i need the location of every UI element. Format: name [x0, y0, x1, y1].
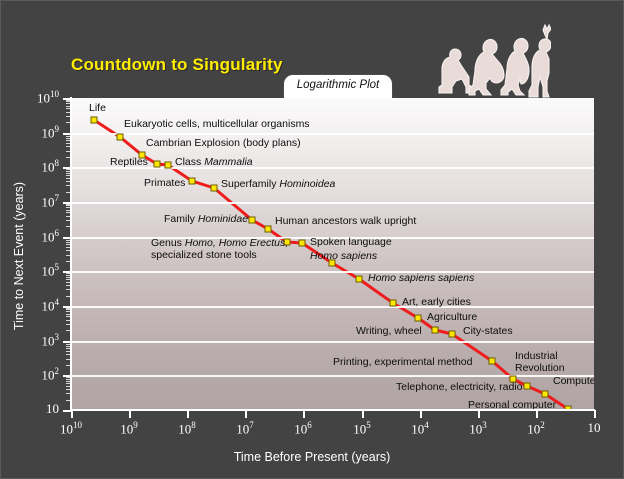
y-minor-tick [66, 381, 71, 382]
y-axis-line [70, 97, 72, 411]
gridline [71, 202, 594, 204]
y-minor-tick [66, 244, 71, 245]
gridline [71, 167, 594, 169]
data-point-marker[interactable] [154, 161, 161, 168]
data-point-marker[interactable] [432, 327, 439, 334]
y-minor-tick [66, 383, 71, 384]
data-point-label: Art, early cities [402, 296, 471, 308]
y-minor-tick [66, 289, 71, 290]
y-minor-tick [66, 171, 71, 172]
x-axis-title: Time Before Present (years) [1, 450, 623, 464]
data-point-label: Writing, wheel [356, 325, 422, 337]
y-minor-tick [66, 205, 71, 206]
y-minor-tick [66, 342, 71, 343]
y-minor-tick [66, 136, 71, 137]
y-minor-tick [66, 275, 71, 276]
y-minor-tick [66, 314, 71, 315]
data-point-label: Homo sapiens sapiens [368, 272, 474, 284]
y-minor-tick [66, 212, 71, 213]
gridline [71, 306, 594, 308]
data-point-label: Telephone, electricity, radio [396, 381, 522, 393]
y-minor-tick [66, 279, 71, 280]
data-point-marker[interactable] [489, 358, 496, 365]
y-minor-tick [66, 207, 71, 208]
y-minor-tick [66, 134, 71, 135]
y-tick-label: 104 [1, 297, 59, 314]
y-minor-tick [66, 393, 71, 394]
y-minor-tick [66, 169, 71, 170]
y-minor-tick [66, 151, 71, 152]
x-tick [478, 410, 480, 418]
y-minor-tick [66, 210, 71, 211]
y-minor-tick [66, 100, 71, 101]
y-minor-tick [66, 354, 71, 355]
x-tick-label: 104 [411, 420, 429, 437]
y-minor-tick [66, 351, 71, 352]
x-tick-label: 107 [236, 420, 254, 437]
human-evolution-silhouettes-icon [425, 7, 551, 99]
y-minor-tick [66, 261, 71, 262]
data-point-label: Revolution [515, 362, 565, 374]
y-minor-tick [66, 238, 71, 239]
y-minor-tick [66, 140, 71, 141]
data-point-label: specialized stone tools [151, 249, 257, 261]
y-minor-tick [66, 146, 71, 147]
tab-label: Logarithmic Plot [284, 79, 392, 91]
y-minor-tick [66, 101, 71, 102]
y-minor-tick [66, 346, 71, 347]
x-tick-label: 109 [120, 420, 138, 437]
y-minor-tick [66, 250, 71, 251]
y-minor-tick [66, 178, 71, 179]
data-point-label: Spoken language [310, 236, 392, 248]
data-point-label: Primates [144, 177, 185, 189]
data-point-label: Printing, experimental method [333, 356, 473, 368]
data-point-label: Family Hominidae [164, 213, 248, 225]
y-minor-tick [66, 216, 71, 217]
data-point-marker[interactable] [449, 331, 456, 338]
y-minor-tick [66, 204, 71, 205]
plot-area: LifeEukaryotic cells, multicellular orga… [71, 98, 594, 410]
data-point-label: Eukaryotic cells, multicellular organism… [124, 118, 310, 130]
y-minor-tick [66, 192, 71, 193]
y-minor-tick [66, 247, 71, 248]
data-point-label: Industrial [515, 350, 558, 362]
y-minor-tick [66, 282, 71, 283]
x-tick [71, 410, 73, 418]
data-point-marker[interactable] [165, 162, 172, 169]
data-point-marker[interactable] [117, 134, 124, 141]
y-minor-tick [66, 379, 71, 380]
x-tick-label: 102 [527, 420, 545, 437]
y-minor-tick [66, 103, 71, 104]
data-point-marker[interactable] [390, 300, 397, 307]
data-point-marker[interactable] [524, 383, 531, 390]
data-point-label: Superfamily Hominoidea [221, 178, 335, 190]
x-tick [187, 410, 189, 418]
y-tick-label: 1010 [1, 89, 59, 106]
y-minor-tick [66, 108, 71, 109]
y-minor-tick [66, 400, 71, 401]
y-minor-tick [66, 309, 71, 310]
data-point-marker[interactable] [265, 226, 272, 233]
x-tick [245, 410, 247, 418]
y-minor-tick [66, 226, 71, 227]
y-minor-tick [66, 122, 71, 123]
x-tick [420, 410, 422, 418]
y-minor-tick [66, 359, 71, 360]
data-point-label: Cambrian Explosion (body plans) [146, 137, 301, 149]
y-minor-tick [66, 344, 71, 345]
data-point-marker[interactable] [542, 391, 549, 398]
x-tick [536, 410, 538, 418]
y-minor-tick [66, 296, 71, 297]
y-minor-tick [66, 242, 71, 243]
data-point-marker[interactable] [356, 276, 363, 283]
y-minor-tick [66, 389, 71, 390]
data-point-label: Life [89, 102, 106, 114]
data-point-marker[interactable] [299, 240, 306, 247]
y-minor-tick [66, 308, 71, 309]
y-minor-tick [66, 138, 71, 139]
y-minor-tick [66, 386, 71, 387]
data-point-label: Class Mammalia [175, 156, 253, 168]
y-minor-tick [66, 173, 71, 174]
x-tick-label: 1010 [60, 420, 82, 437]
gridline [71, 271, 594, 273]
x-tick [303, 410, 305, 418]
gridline [71, 133, 594, 135]
data-point-marker[interactable] [415, 315, 422, 322]
y-minor-tick [66, 185, 71, 186]
x-tick-label: 105 [353, 420, 371, 437]
y-tick-label: 10 [1, 401, 59, 417]
data-point-label: Computer [553, 375, 594, 387]
data-point-marker[interactable] [249, 217, 256, 224]
chart-window: Countdown to Singularity Logarithmic Plo… [0, 0, 624, 479]
y-minor-tick [66, 324, 71, 325]
data-point-label: City-states [463, 325, 513, 337]
y-minor-tick [66, 255, 71, 256]
y-tick-label: 107 [1, 193, 59, 210]
gridline [71, 341, 594, 343]
y-minor-tick [66, 285, 71, 286]
y-tick-label: 109 [1, 124, 59, 141]
x-axis-line [70, 409, 595, 411]
y-tick-label: 103 [1, 332, 59, 349]
y-minor-tick [66, 181, 71, 182]
y-minor-tick [66, 365, 71, 366]
y-minor-tick [66, 348, 71, 349]
data-point-label: Genus Homo, Homo Erectus, [151, 237, 288, 249]
y-minor-tick [66, 316, 71, 317]
y-minor-tick [66, 273, 71, 274]
data-point-marker[interactable] [211, 185, 218, 192]
y-minor-tick [66, 330, 71, 331]
data-point-label: Homo sapiens [310, 250, 377, 262]
data-point-marker[interactable] [91, 117, 98, 124]
x-tick-label: 106 [294, 420, 312, 437]
x-tick-label: 10 [588, 420, 601, 436]
y-axis-title: Time to Next Event (years) [12, 156, 26, 356]
x-tick-label: 103 [469, 420, 487, 437]
y-minor-tick [66, 311, 71, 312]
data-point-label: Reptiles [110, 156, 148, 168]
y-tick-label: 105 [1, 262, 59, 279]
y-minor-tick [66, 277, 71, 278]
x-tick-label: 108 [178, 420, 196, 437]
page-title: Countdown to Singularity [71, 55, 283, 75]
data-point-label: Agriculture [427, 311, 477, 323]
y-minor-tick [66, 112, 71, 113]
x-tick [594, 410, 596, 418]
tab-logarithmic-plot[interactable]: Logarithmic Plot [284, 75, 392, 99]
x-tick [362, 410, 364, 418]
y-minor-tick [66, 157, 71, 158]
y-tick-label: 102 [1, 366, 59, 383]
data-point-marker[interactable] [189, 178, 196, 185]
x-tick [129, 410, 131, 418]
data-point-label: Human ancestors walk upright [275, 215, 416, 227]
y-minor-tick [66, 116, 71, 117]
y-tick-label: 108 [1, 158, 59, 175]
y-minor-tick [66, 175, 71, 176]
y-minor-tick [66, 377, 71, 378]
y-minor-tick [66, 240, 71, 241]
y-tick-label: 106 [1, 228, 59, 245]
y-minor-tick [66, 320, 71, 321]
y-minor-tick [66, 143, 71, 144]
y-minor-tick [66, 220, 71, 221]
y-minor-tick [66, 106, 71, 107]
